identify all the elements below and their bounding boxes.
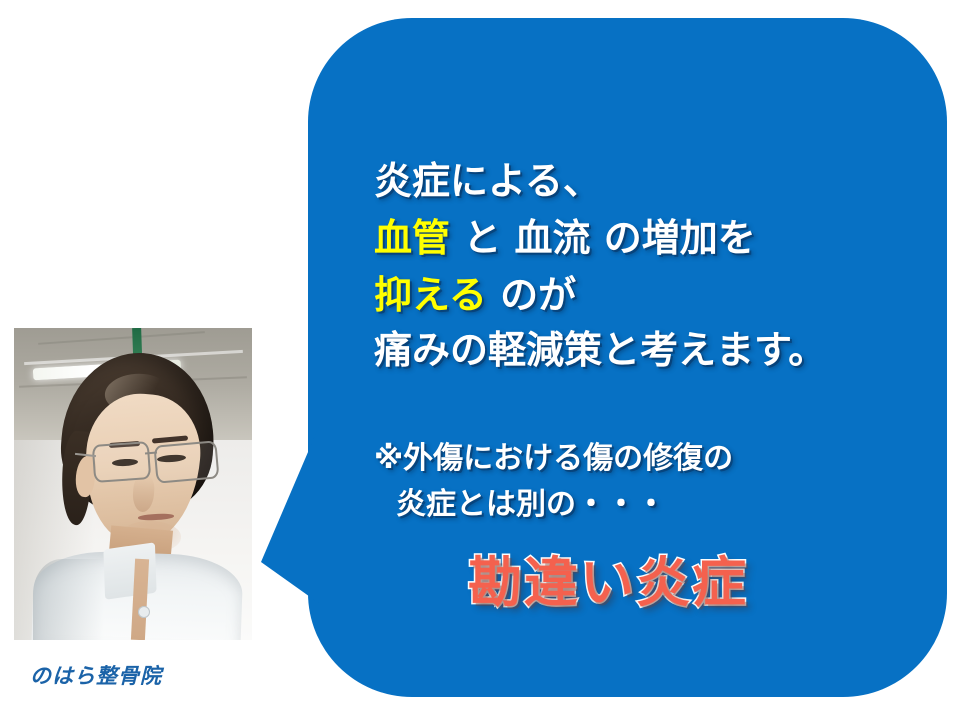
portrait-photo xyxy=(14,328,252,640)
eyeglasses xyxy=(85,443,218,477)
message-line-4: 痛みの軽減策と考えます。 xyxy=(374,331,826,369)
message-line-2-tail: の増加を xyxy=(591,216,756,260)
message-line-2: 血管 と 血流 の増加を xyxy=(374,219,756,257)
message-line-3-tail: のが xyxy=(487,273,576,317)
coat-button xyxy=(138,606,150,618)
footnote-line-2: 炎症とは別の・・・ xyxy=(396,490,666,520)
message-line-2-conjunction: と xyxy=(450,216,514,260)
clinic-name-caption: のはら整骨院 xyxy=(30,660,162,690)
slide-canvas: のはら整骨院 炎症による、 血管 と 血流 の増加を 抑える のが 痛みの軽減策… xyxy=(0,0,960,720)
eyeglass-lens-right xyxy=(153,441,219,485)
message-line-1-text: 炎症による、 xyxy=(374,159,601,203)
portrait-photo-image xyxy=(14,328,252,640)
coat-shadow xyxy=(33,559,104,640)
message-line-4-text: 痛みの軽減策と考えます。 xyxy=(374,328,826,372)
highlight-kekkan: 血管 xyxy=(374,216,450,260)
message-line-3: 抑える のが xyxy=(374,276,576,314)
headline-kanchigai-ensho: 勘違い炎症 xyxy=(468,556,748,610)
speech-bubble-content: 炎症による、 血管 と 血流 の増加を 抑える のが 痛みの軽減策と考えます。 … xyxy=(308,18,947,697)
message-line-2-keturyu: 血流 xyxy=(514,216,590,260)
footnote-line-1: ※外傷における傷の修復の xyxy=(374,444,733,474)
highlight-osaeru: 抑える xyxy=(374,273,487,317)
coat-collar xyxy=(104,543,158,600)
message-line-1: 炎症による、 xyxy=(374,162,601,200)
